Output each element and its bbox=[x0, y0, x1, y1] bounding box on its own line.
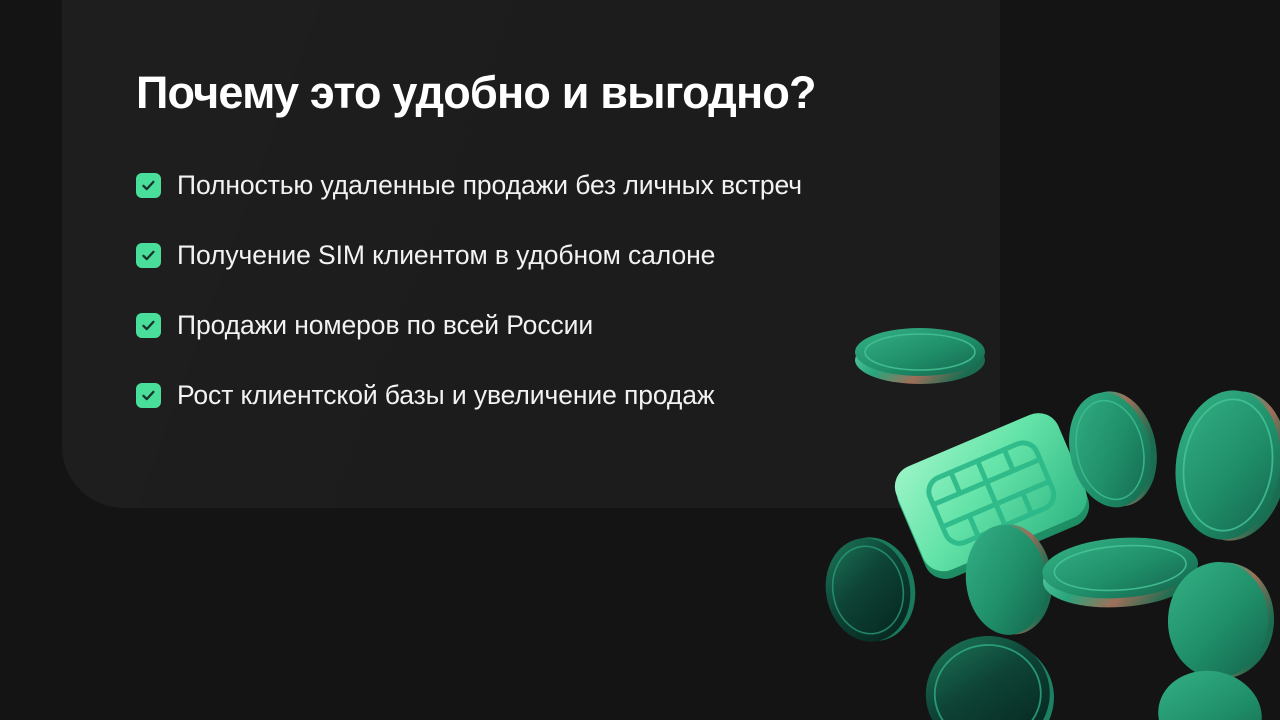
coin bbox=[1040, 533, 1200, 613]
checkbox-checked-icon bbox=[136, 383, 161, 408]
list-item: Полностью удаленные продажи без личных в… bbox=[136, 162, 956, 208]
coin bbox=[1151, 663, 1269, 720]
list-item: Рост клиентской базы и увеличение продаж bbox=[136, 372, 956, 418]
coin bbox=[1164, 559, 1278, 682]
presentation-slide: Почему это удобно и выгодно? Полностью у… bbox=[0, 0, 1280, 720]
list-item-label: Продажи номеров по всей России bbox=[177, 312, 593, 339]
list-item: Продажи номеров по всей России bbox=[136, 302, 956, 348]
page-title: Почему это удобно и выгодно? bbox=[136, 68, 956, 118]
checkbox-checked-icon bbox=[136, 313, 161, 338]
list-item: Получение SIM клиентом в удобном салоне bbox=[136, 232, 956, 278]
list-item-label: Получение SIM клиентом в удобном салоне bbox=[177, 242, 715, 269]
benefits-list: Полностью удаленные продажи без личных в… bbox=[136, 162, 956, 418]
list-item-label: Полностью удаленные продажи без личных в… bbox=[177, 172, 802, 199]
checkbox-checked-icon bbox=[136, 173, 161, 198]
list-item-label: Рост клиентской базы и увеличение продаж bbox=[177, 382, 715, 409]
slide-content: Почему это удобно и выгодно? Полностью у… bbox=[136, 68, 956, 442]
coin bbox=[818, 531, 924, 649]
coin bbox=[1059, 384, 1167, 515]
checkbox-checked-icon bbox=[136, 243, 161, 268]
coin bbox=[1166, 383, 1280, 547]
coin bbox=[923, 633, 1057, 720]
coin bbox=[960, 520, 1057, 638]
